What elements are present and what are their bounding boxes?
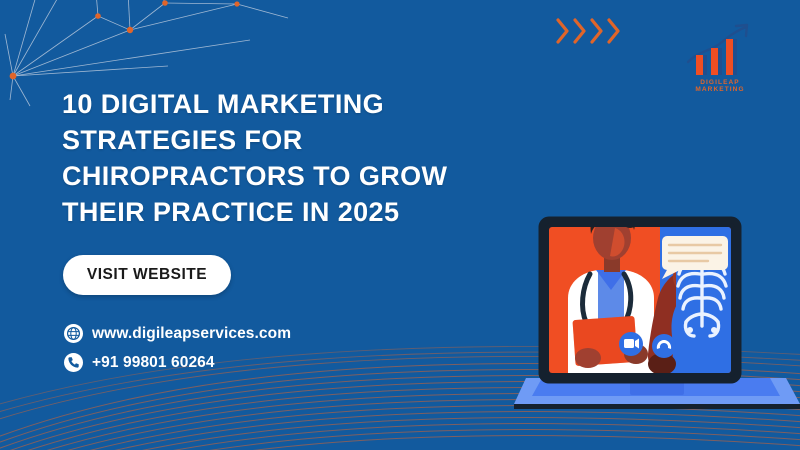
end-call-button [652, 334, 676, 358]
chevron-right-icon [607, 18, 621, 44]
chevron-decoration [556, 16, 642, 46]
website-row[interactable]: www.digileapservices.com [64, 324, 291, 343]
phone-row[interactable]: +91 99801 60264 [64, 353, 291, 372]
logo-line-1: DIGILEAP [695, 79, 744, 86]
headline-line-2: STRATEGIES FOR [62, 122, 582, 158]
chevron-right-icon [590, 18, 604, 44]
phone-text: +91 99801 60264 [92, 354, 215, 372]
brand-logo[interactable]: DIGILEAP MARKETING [668, 22, 772, 104]
contact-block: www.digileapservices.com +91 99801 60264 [64, 324, 291, 382]
logo-wordmark: DIGILEAP MARKETING [695, 79, 744, 94]
phone-icon [64, 353, 83, 372]
headline: 10 DIGITAL MARKETING STRATEGIES FOR CHIR… [62, 86, 582, 230]
telemedicine-laptop-illustration [512, 178, 800, 414]
bar-chart-growth-icon [684, 22, 756, 78]
visit-website-button[interactable]: VISIT WEBSITE [63, 255, 231, 295]
promo-banner: DIGILEAP MARKETING 10 DIGITAL MARKETING … [0, 0, 800, 450]
video-call-button [619, 332, 643, 356]
headline-line-4: THEIR PRACTICE IN 2025 [62, 194, 582, 230]
globe-icon [64, 324, 83, 343]
headline-line-1: 10 DIGITAL MARKETING [62, 86, 582, 122]
headline-line-3: CHIROPRACTORS TO GROW [62, 158, 582, 194]
chevron-right-icon [573, 18, 587, 44]
logo-line-2: MARKETING [695, 86, 744, 93]
website-text: www.digileapservices.com [92, 325, 291, 343]
chevron-right-icon [556, 18, 570, 44]
